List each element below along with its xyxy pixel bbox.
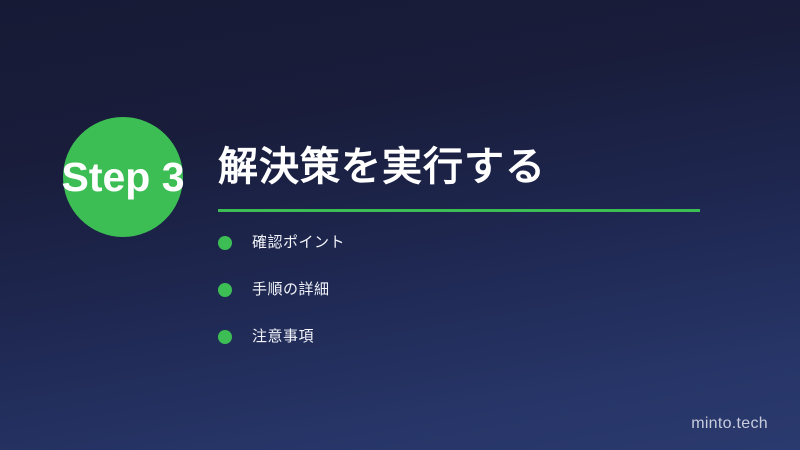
slide-title: 解決策を実行する — [218, 140, 758, 194]
step-badge: Step 3 — [63, 117, 183, 237]
bullet-list: 確認ポイント 手順の詳細 注意事項 — [218, 233, 758, 347]
list-item-label: 注意事項 — [252, 327, 314, 347]
list-item: 手順の詳細 — [218, 280, 758, 300]
slide-content: 解決策を実行する 確認ポイント 手順の詳細 注意事項 — [218, 140, 758, 374]
title-underline-rule — [218, 209, 700, 212]
list-item: 注意事項 — [218, 327, 758, 347]
step-number-label: Step 3 — [45, 152, 201, 202]
list-item: 確認ポイント — [218, 233, 758, 253]
bullet-dot-icon — [218, 283, 232, 297]
list-item-label: 確認ポイント — [252, 233, 345, 253]
watermark-label: minto.tech — [691, 415, 768, 433]
list-item-label: 手順の詳細 — [252, 280, 330, 300]
bullet-dot-icon — [218, 330, 232, 344]
presentation-slide: Step 3 解決策を実行する 確認ポイント 手順の詳細 注意事項 minto.… — [0, 0, 800, 450]
bullet-dot-icon — [218, 236, 232, 250]
